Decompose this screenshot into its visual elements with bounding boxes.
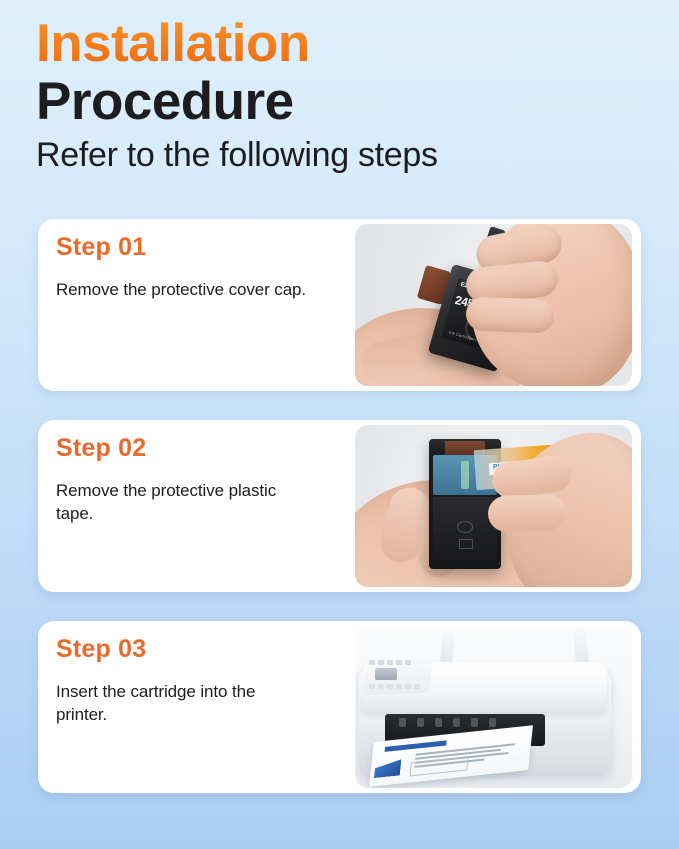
page-header: Installation Procedure Refer to the foll…	[36, 16, 636, 175]
page-title-accent: Installation	[36, 16, 636, 72]
step-card: Step 01 Remove the protective cover cap.…	[38, 219, 641, 391]
photo-remove-plastic-tape: PULL PULL	[355, 425, 632, 587]
step-image: PULL PULL	[355, 425, 632, 587]
step-title: Step 03	[56, 634, 346, 664]
step-image: EZink 245XL Ink Cartridge	[355, 224, 632, 386]
step-card: Step 02 Remove the protective plastic ta…	[38, 420, 641, 592]
installation-procedure-page: Installation Procedure Refer to the foll…	[0, 0, 679, 849]
step-description: Remove the protective plastic tape.	[56, 480, 311, 526]
steps-list: Step 01 Remove the protective cover cap.…	[38, 219, 641, 793]
photo-remove-cover-cap: EZink 245XL Ink Cartridge	[355, 224, 632, 386]
step-card: Step 03 Insert the cartridge into the pr…	[38, 621, 641, 793]
step-description: Remove the protective cover cap.	[56, 279, 311, 302]
step-card-text: Step 02 Remove the protective plastic ta…	[56, 433, 346, 526]
step-title: Step 02	[56, 433, 346, 463]
step-image	[355, 626, 632, 788]
step-title: Step 01	[56, 232, 346, 262]
page-title-main: Procedure	[36, 74, 636, 130]
photo-insert-cartridge-printer	[355, 626, 632, 788]
step-description: Insert the cartridge into the printer.	[56, 681, 311, 727]
step-card-text: Step 01 Remove the protective cover cap.	[56, 232, 346, 302]
step-card-text: Step 03 Insert the cartridge into the pr…	[56, 634, 346, 727]
page-subtitle: Refer to the following steps	[36, 136, 636, 175]
